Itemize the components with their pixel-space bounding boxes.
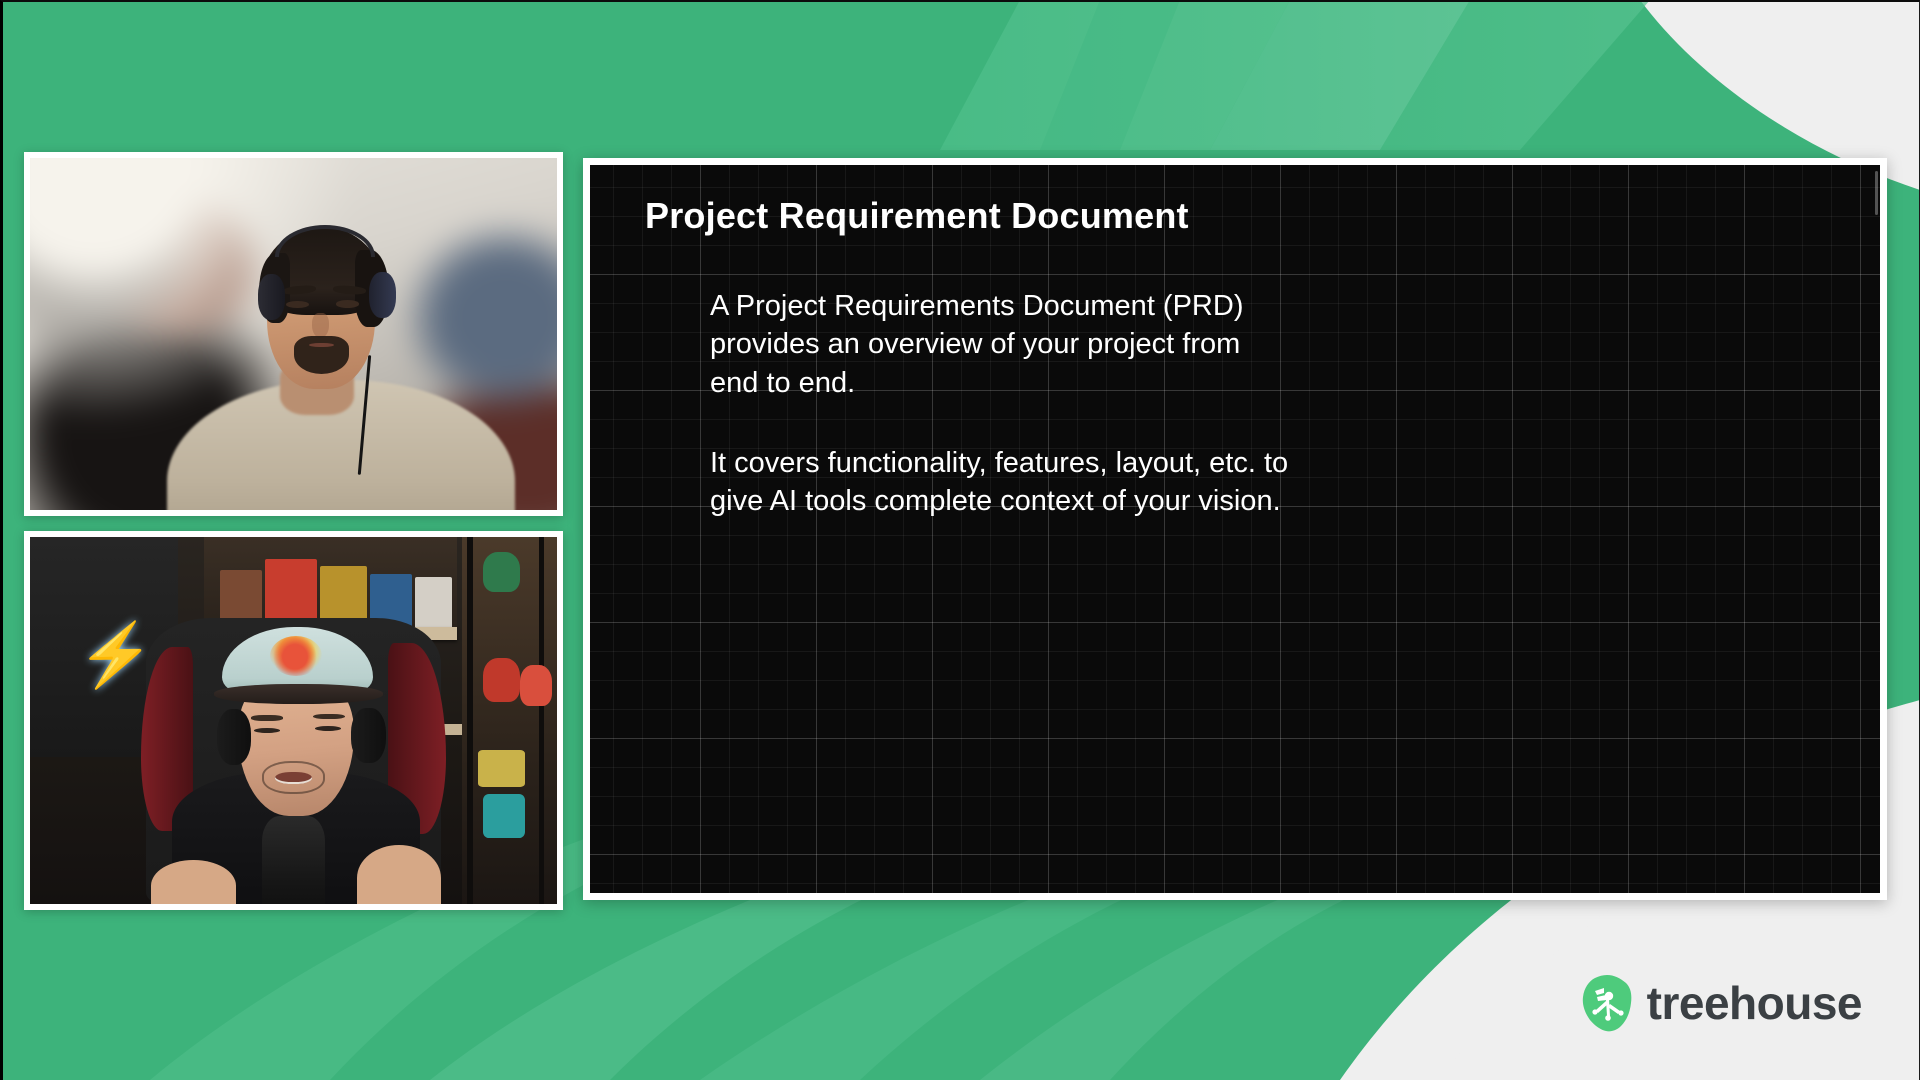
headphone-earcup-right [351, 708, 385, 763]
person-b-eyebrow-right [313, 714, 345, 720]
person-a-nose [312, 313, 329, 338]
lightning-bolt-neon-icon: ⚡ [77, 625, 119, 720]
headphones-headband-icon [275, 225, 375, 257]
collectible-figure [483, 552, 520, 592]
person-a-eye-right [336, 300, 359, 307]
camera-feed-bottom: ⚡ [30, 537, 557, 904]
presenter-webcam-secondary[interactable]: ⚡ [24, 531, 563, 910]
headphone-earcup-right [369, 272, 396, 318]
headphone-earcup-left [217, 709, 251, 764]
presenter-webcam-primary[interactable] [24, 152, 563, 516]
camera-feed-top [30, 158, 557, 510]
person-b-eye-left [254, 728, 280, 733]
headphone-earcup-left [258, 274, 285, 320]
treehouse-logo[interactable]: treehouse [1581, 974, 1862, 1032]
collectible-figure [483, 794, 525, 838]
baseball-cap-brim [214, 684, 383, 704]
person-b-hand-left [151, 860, 235, 904]
slide-paragraph-2-line-1: It covers functionality, features, layou… [710, 444, 1840, 482]
rack-post [539, 537, 545, 904]
rack-post [467, 537, 473, 904]
slide-title: Project Requirement Document [590, 195, 1835, 237]
paragraph-spacer [710, 402, 1840, 444]
collectible-figure [478, 750, 525, 787]
stream-stage: ⚡ [0, 0, 1920, 1080]
treehouse-logo-mark [1581, 974, 1633, 1032]
person-b-hand-right [357, 845, 441, 904]
microphone [262, 816, 325, 904]
collectible-box [415, 577, 452, 628]
person-b-mouth [275, 772, 312, 784]
slide-body: A Project Requirements Document (PRD) pr… [710, 287, 1840, 520]
slide-paragraph-2-line-2: give AI tools complete context of your v… [710, 482, 1840, 520]
collectible-figure [483, 658, 520, 702]
person-a-beard [294, 336, 349, 375]
treehouse-wordmark: treehouse [1647, 980, 1862, 1026]
slide-paragraph-1-line-2: provides an overview of your project fro… [710, 325, 1840, 363]
slide-paragraph-1-line-3: end to end. [710, 364, 1840, 402]
collectible-figure [520, 665, 552, 705]
slide-paragraph-1-line-1: A Project Requirements Document (PRD) [710, 287, 1840, 325]
presentation-slide-frame[interactable]: Project Requirement Document A Project R… [583, 158, 1887, 900]
person-b-eyebrow-left [251, 715, 283, 721]
slide-scrollbar[interactable] [1875, 171, 1878, 215]
presentation-slide: Project Requirement Document A Project R… [590, 165, 1880, 893]
